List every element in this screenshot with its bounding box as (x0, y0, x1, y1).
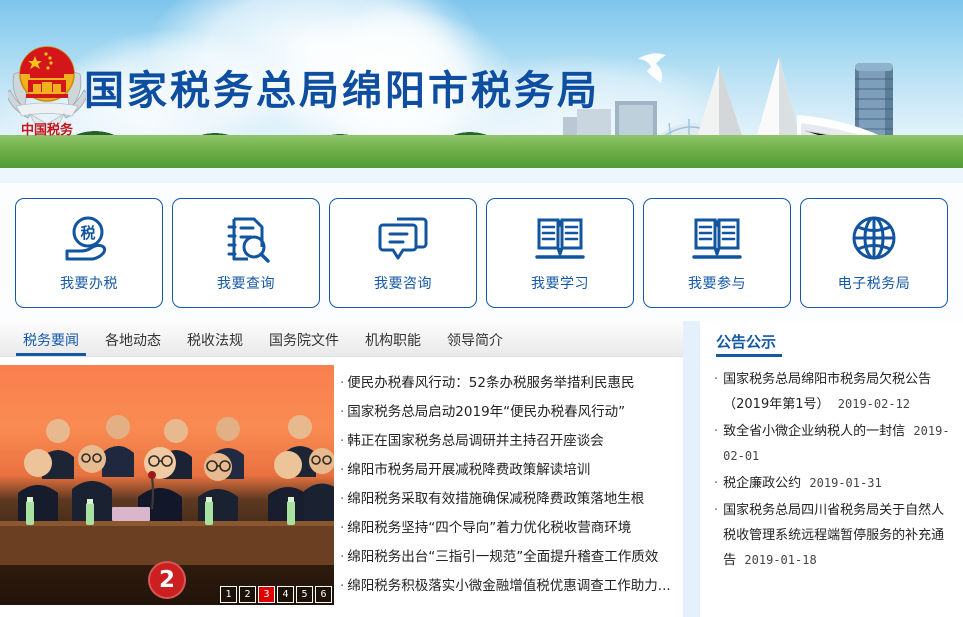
carousel-page-1[interactable]: 1 (220, 586, 237, 603)
bullet-icon: · (340, 549, 344, 565)
carousel-page-6[interactable]: 6 (315, 586, 332, 603)
bullet-icon: · (340, 520, 344, 536)
tab-lingdaojianjie[interactable]: 领导简介 (434, 334, 516, 356)
news-item-title: 绵阳税务出台“三指引一规范”全面提升稽查工作质效 (347, 549, 658, 565)
quick-nav-card-label: 我要查询 (217, 273, 275, 293)
bullet-icon: · (340, 491, 344, 507)
hand-holding-tax-icon: 税 (61, 213, 117, 267)
news-list-item[interactable]: ·绵阳税务采取有效措施确保减税降费政策落地生根 (340, 485, 673, 514)
news-item-title: 绵阳税务坚持“四个导向”着力优化税收营商环境 (347, 520, 631, 536)
quick-nav-card-zixun[interactable]: 我要咨询 (329, 198, 477, 308)
quick-nav-card-banshui[interactable]: 税 我要办税 (15, 198, 163, 308)
news-list-item[interactable]: ·便民办税春风行动：52条办税服务举措利民惠民 (340, 369, 673, 398)
bullet-icon: · (714, 471, 718, 496)
news-list-item[interactable]: ·韩正在国家税务总局调研并主持召开座谈会 (340, 427, 673, 456)
news-item-title: 绵阳税务积极落实小微金融增值税优惠调查工作助力... (347, 578, 670, 594)
quick-nav-card-label: 我要参与 (688, 273, 746, 293)
svg-text:税: 税 (80, 224, 95, 242)
main-content: 税务要闻 各地动态 税收法规 国务院文件 机构职能 领导简介 (0, 321, 963, 617)
bullet-icon: · (714, 498, 718, 573)
tab-shuiwuyaowen[interactable]: 税务要闻 (10, 334, 92, 356)
news-list: ·便民办税春风行动：52条办税服务举措利民惠民 ·国家税务总局启动2019年“便… (334, 357, 683, 616)
china-tax-emblem: 中国税务 (8, 28, 86, 136)
announcement-item[interactable]: · 国家税务总局四川省税务局关于自然人税收管理系统远程端暂停服务的补充通告 20… (714, 498, 951, 573)
quick-nav-cards: 税 我要办税 我要查询 我要咨询 (0, 183, 963, 321)
news-list-item[interactable]: ·国家税务总局启动2019年“便民办税春风行动” (340, 398, 673, 427)
news-tabbar: 税务要闻 各地动态 税收法规 国务院文件 机构职能 领导简介 (0, 321, 683, 357)
quick-nav-card-label: 电子税务局 (838, 273, 911, 293)
announcement-date: 2019-02-12 (838, 397, 910, 411)
announcements-title: 公告公示 (716, 335, 776, 357)
news-item-title: 国家税务总局启动2019年“便民办税春风行动” (347, 404, 625, 420)
bullet-icon: · (340, 578, 344, 594)
site-banner: 中国税务 国家税务总局绵阳市税务局 (0, 0, 963, 183)
carousel-page-3[interactable]: 3 (258, 586, 275, 603)
news-panel: 税务要闻 各地动态 税收法规 国务院文件 机构职能 领导简介 (0, 321, 683, 617)
quick-nav-card-label: 我要办税 (60, 273, 118, 293)
banner-bottom-strip (0, 168, 963, 183)
announcements-list: · 国家税务总局绵阳市税务局欠税公告（2019年第1号） 2019-02-12 … (700, 357, 963, 573)
news-item-title: 绵阳市税务局开展减税降费政策解读培训 (347, 462, 590, 478)
news-item-title: 便民办税春风行动：52条办税服务举措利民惠民 (347, 375, 634, 391)
bullet-icon: · (714, 367, 718, 417)
news-list-item[interactable]: ·绵阳税务坚持“四个导向”着力优化税收营商环境 (340, 514, 673, 543)
announcement-date: 2019-01-18 (744, 553, 816, 567)
quick-nav-card-xuexi[interactable]: 我要学习 (486, 198, 634, 308)
tab-jigouzhineng[interactable]: 机构职能 (352, 334, 434, 356)
news-image-carousel[interactable]: 2 1 2 3 4 5 6 (0, 365, 334, 605)
quick-nav-card-label: 我要咨询 (374, 273, 432, 293)
grass-strip-decoration (0, 135, 963, 169)
announcements-header: 公告公示 (700, 321, 963, 357)
announcement-item[interactable]: · 国家税务总局绵阳市税务局欠税公告（2019年第1号） 2019-02-12 (714, 367, 951, 417)
announcements-panel: 公告公示 · 国家税务总局绵阳市税务局欠税公告（2019年第1号） 2019-0… (700, 321, 963, 617)
carousel-page-4[interactable]: 4 (277, 586, 294, 603)
quick-nav-card-label: 我要学习 (531, 273, 589, 293)
document-search-icon (218, 213, 274, 267)
quick-nav-card-canyu[interactable]: 我要参与 (643, 198, 791, 308)
bullet-icon: · (340, 462, 344, 478)
quick-nav-card-dianzishuiwuju[interactable]: 电子税务局 (800, 198, 948, 308)
announcement-item[interactable]: · 税企廉政公约 2019-01-31 (714, 471, 951, 496)
announcement-item[interactable]: · 致全省小微企业纳税人的一封信 2019-02-01 (714, 419, 951, 469)
page-title: 国家税务总局绵阳市税务局 (84, 58, 600, 116)
carousel-page-5[interactable]: 5 (296, 586, 313, 603)
open-book-icon (532, 213, 588, 267)
news-list-item[interactable]: ·绵阳税务出台“三指引一规范”全面提升稽查工作质效 (340, 543, 673, 572)
carousel-photo-subjects (0, 405, 334, 565)
bullet-icon: · (714, 419, 718, 469)
bullet-icon: · (340, 433, 344, 449)
carousel-pagination: 1 2 3 4 5 6 (218, 584, 334, 605)
bullet-icon: · (340, 404, 344, 420)
tab-guowuyuanwenjian[interactable]: 国务院文件 (256, 334, 352, 356)
tab-gedidongtai[interactable]: 各地动态 (92, 334, 174, 356)
news-item-title: 韩正在国家税务总局调研并主持召开座谈会 (347, 433, 604, 449)
announcement-text: 致全省小微企业纳税人的一封信 (723, 424, 905, 439)
announcement-text: 税企廉政公约 (723, 476, 801, 491)
svg-text:中国税务: 中国税务 (21, 122, 74, 136)
globe-icon (846, 213, 902, 267)
news-list-item[interactable]: ·绵阳税务积极落实小微金融增值税优惠调查工作助力... (340, 572, 673, 601)
news-item-title: 绵阳税务采取有效措施确保减税降费政策落地生根 (347, 491, 644, 507)
chat-bubble-icon (375, 213, 431, 267)
tab-shuishoufagui[interactable]: 税收法规 (174, 334, 256, 356)
quick-nav-card-chaxun[interactable]: 我要查询 (172, 198, 320, 308)
carousel-page-2[interactable]: 2 (239, 586, 256, 603)
open-book-icon (689, 213, 745, 267)
carousel-slide-badge: 2 (148, 561, 186, 599)
bullet-icon: · (340, 375, 344, 391)
news-list-item[interactable]: ·绵阳市税务局开展减税降费政策解读培训 (340, 456, 673, 485)
announcement-date: 2019-01-31 (809, 476, 881, 490)
